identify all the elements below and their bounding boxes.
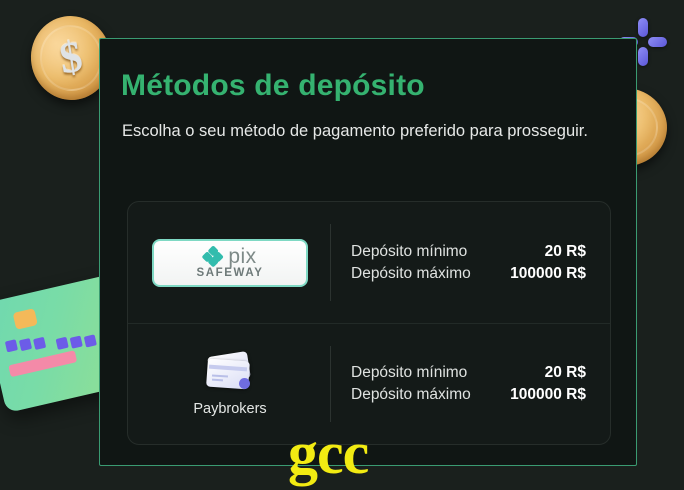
minimum-deposit-line: Depósito mínimo 20 R$ [351,364,586,382]
payment-methods-list: pix SAFEWAY Depósito mínimo 20 R$ Depósi… [127,201,611,445]
card-digit-block [5,339,18,352]
card-digit-block [70,336,83,349]
card-digit-block [56,337,69,350]
payment-card-icon [203,352,257,394]
coin-rim [35,21,107,95]
pix-diamond-icon [203,247,222,266]
gcc-watermark: gcc [288,423,368,483]
pix-wordmark: pix [228,246,256,267]
card-digit-block [84,334,97,347]
maximum-deposit-value: 100000 R$ [510,265,586,283]
payment-method-limits-pix: Depósito mínimo 20 R$ Depósito máximo 10… [331,243,608,283]
maximum-deposit-label: Depósito máximo [351,386,471,404]
card-digit-block [33,337,46,350]
paybrokers-label: Paybrokers [193,401,266,417]
page-subtitle: Escolha o seu método de pagamento prefer… [122,119,592,145]
card-chip-icon [13,308,38,330]
minimum-deposit-label: Depósito mínimo [351,364,467,382]
minimum-deposit-line: Depósito mínimo 20 R$ [351,243,586,261]
maximum-deposit-label: Depósito máximo [351,265,471,283]
payment-method-brand-paybrokers: Paybrokers [130,352,330,417]
card-digit-block [19,338,32,351]
pix-safeway-label: SAFEWAY [196,268,263,280]
payment-method-row-pix[interactable]: pix SAFEWAY Depósito mínimo 20 R$ Depósi… [128,202,610,323]
card-stripe [8,350,77,377]
payment-method-row-paybrokers[interactable]: Paybrokers Depósito mínimo 20 R$ Depósit… [128,323,610,444]
plus-arm-right [648,37,667,47]
dollar-sign-icon: $ [57,35,86,82]
payment-method-brand-pix: pix SAFEWAY [130,239,330,287]
pix-logo-top: pix [203,246,256,268]
deposit-methods-panel: Métodos de depósito Escolha o seu método… [99,38,637,466]
pix-logo: pix SAFEWAY [152,239,308,287]
minimum-deposit-value: 20 R$ [545,364,586,382]
minimum-deposit-value: 20 R$ [545,243,586,261]
payment-method-limits-paybrokers: Depósito mínimo 20 R$ Depósito máximo 10… [331,364,608,404]
page-title: Métodos de depósito [121,69,425,103]
maximum-deposit-value: 100000 R$ [510,386,586,404]
maximum-deposit-line: Depósito máximo 100000 R$ [351,265,586,283]
plus-arm-top [638,18,648,37]
plus-arm-bottom [638,47,648,66]
maximum-deposit-line: Depósito máximo 100000 R$ [351,386,586,404]
minimum-deposit-label: Depósito mínimo [351,243,467,261]
